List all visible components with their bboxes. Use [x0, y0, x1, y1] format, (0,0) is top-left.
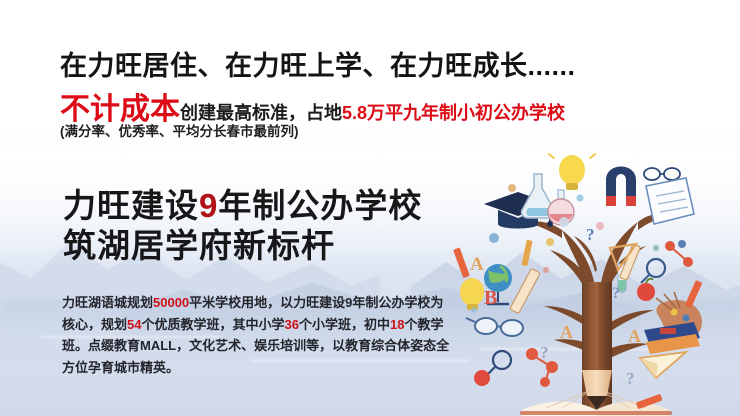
magnifier-icon: [486, 351, 511, 376]
question-mark-icon: ?: [626, 369, 635, 388]
pencil-icon: [685, 280, 703, 308]
page-title-row2: 筑湖居学府新标杆: [63, 226, 422, 266]
title-pre: 力旺建设: [63, 187, 199, 224]
apple-icon: [474, 370, 490, 386]
lightbulb-icon: [460, 278, 484, 310]
letter-a-icon: A: [628, 326, 641, 346]
ruler-icon: [510, 268, 540, 313]
notebook-icon: [646, 178, 694, 224]
glasses-icon: [644, 168, 680, 180]
letter-b-icon: B: [484, 287, 497, 309]
book-icon: [644, 322, 700, 354]
body-paragraph: 力旺湖语城规划50000平米学校用地，以力旺建设9年制公办学校为核心，规划54个…: [62, 292, 454, 378]
page-title-row1: 力旺建设9年制公办学校: [63, 186, 422, 226]
molecule-icon: [665, 240, 693, 267]
body-number-18: 18: [390, 317, 404, 332]
paper-plane-icon: [640, 352, 686, 378]
title-number-9: 9: [199, 187, 218, 224]
question-mark-icon: ?: [612, 285, 620, 302]
pencil-trunk-icon: [582, 282, 612, 416]
body-seg3: 个优质教学班，其中小学: [141, 317, 284, 332]
letter-a-icon: A: [560, 322, 573, 342]
headline-line3-note: (满分率、优秀率、平均分长春市最前列): [60, 120, 299, 140]
title-post: 年制公办学校: [218, 187, 422, 224]
question-mark-icon: ?: [586, 225, 595, 244]
pencil-icon: [521, 240, 532, 267]
pencil-icon: [453, 248, 470, 279]
body-number-54: 54: [127, 317, 141, 332]
body-seg1: 力旺湖语城规划: [62, 295, 153, 310]
question-mark-icon: ?: [540, 343, 549, 362]
magnet-icon: [606, 167, 636, 207]
lightbulb-icon: [549, 152, 595, 190]
headline-line1: 在力旺居住、在力旺上学、在力旺成长......: [60, 44, 576, 83]
knowledge-tree-illustration: A B A A ? ? ? ?: [450, 152, 740, 416]
poster-canvas: 在力旺居住、在力旺上学、在力旺成长...... 不计成本 创建最高标准，占地 5…: [0, 0, 740, 416]
headline-area-text: 5.8万平九年制小初公办学校: [342, 99, 565, 125]
body-number-50000: 50000: [153, 295, 189, 310]
body-number-36: 36: [285, 317, 299, 332]
page-title: 力旺建设9年制公办学校 筑湖居学府新标杆: [63, 186, 422, 266]
letter-a-icon: A: [470, 254, 484, 275]
apple-icon: [637, 279, 655, 301]
body-seg4: 个小学班，初中: [299, 317, 390, 332]
glasses-icon: [466, 318, 523, 336]
